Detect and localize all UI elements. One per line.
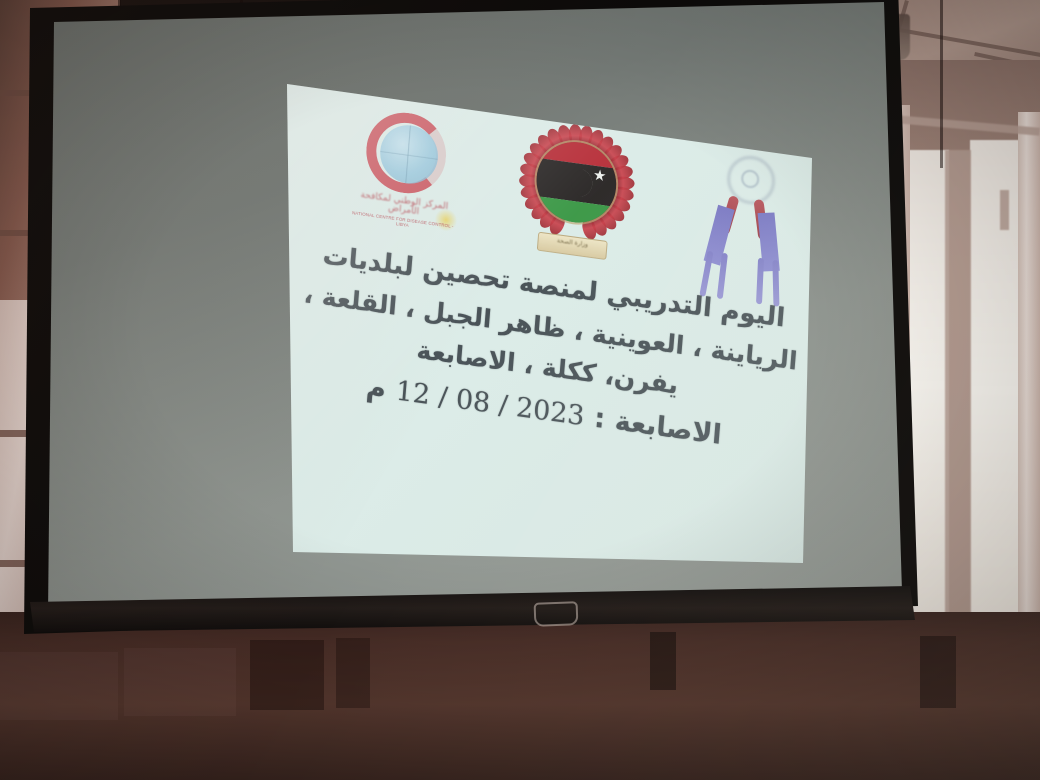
window-frame-bar <box>1000 190 1009 230</box>
footer-location-label: الاصابعة <box>613 402 723 457</box>
footer-separator: : <box>593 399 607 441</box>
window-frame-bar <box>945 150 971 620</box>
projection-screen[interactable]: المركز الوطني لمكافحة الأمراض NATIONAL C… <box>0 0 940 680</box>
two-figures-logo <box>689 149 803 299</box>
curtain-panel <box>1018 112 1040 672</box>
photo-scene: المركز الوطني لمكافحة الأمراض NATIONAL C… <box>0 0 1040 780</box>
libya-flag-disc-icon: ★ <box>531 135 621 230</box>
projected-slide: المركز الوطني لمكافحة الأمراض NATIONAL C… <box>287 78 815 568</box>
libya-ministry-of-health-emblem: ★ وزارة الصحة <box>506 112 645 275</box>
national-centre-for-disease-control-logo: المركز الوطني لمكافحة الأمراض NATIONAL C… <box>346 106 467 239</box>
screen-pull-handle[interactable] <box>534 601 579 627</box>
footer-era-suffix: م <box>365 367 388 410</box>
window-light-pane <box>970 140 1022 640</box>
panel-seam <box>940 0 943 168</box>
